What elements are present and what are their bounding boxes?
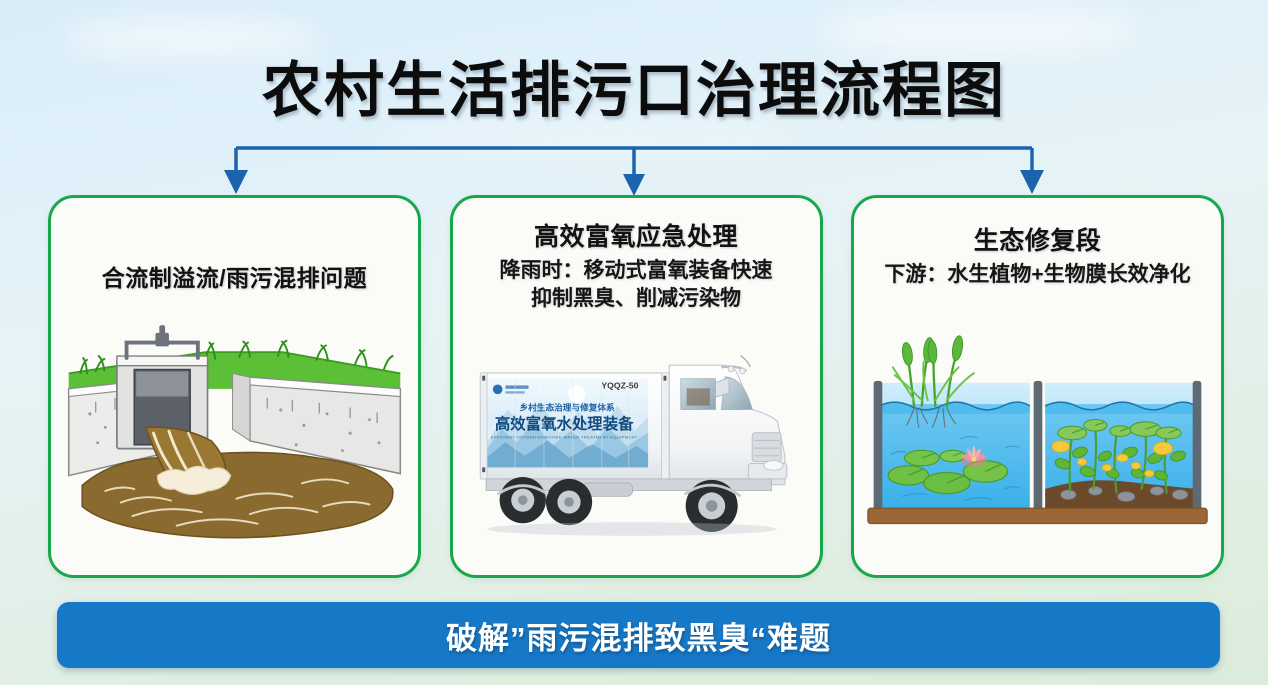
aquatic-plant-tank-illustration (864, 299, 1211, 565)
arrow-head-2 (623, 174, 645, 196)
card-subtitle: 下游：水生植物+生物膜长效净化 (864, 261, 1211, 289)
truck-panel-line3: EFFICIENT OXYGEN-ENRICHED WATER TREATMEN… (490, 434, 637, 439)
stage-card-eco-restoration[interactable]: 生态修复段 下游：水生植物+生物膜长效净化 (851, 195, 1224, 578)
page-title: 农村生活排污口治理流程图 (0, 42, 1268, 129)
card-title: 高效富氧应急处理 (463, 222, 810, 253)
stage-card-emergency-treatment[interactable]: 高效富氧应急处理 降雨时：移动式富氧装备快速 抑制黑臭、削减污染物 (450, 195, 823, 578)
card-title: 生态修复段 (864, 226, 1211, 257)
truck-model-code: YQQZ-50 (601, 380, 638, 390)
stage-cards-row: 合流制溢流/雨污混排问题 (48, 195, 1224, 578)
summary-banner-text: 破解”雨污混排致黑臭“难题 (446, 613, 831, 658)
truck-panel-line1: 乡村生态治理与修复体系 (519, 401, 615, 412)
card-header: 生态修复段 下游：水生植物+生物膜长效净化 (864, 226, 1211, 289)
card-title: 合流制溢流/雨污混排问题 (61, 264, 408, 293)
stage-card-problem[interactable]: 合流制溢流/雨污混排问题 (48, 195, 421, 578)
sewage-outfall-illustration (61, 303, 408, 565)
card-subtitle-line1: 降雨时：移动式富氧装备快速 (463, 257, 810, 285)
truck-panel-line2: 高效富氧水处理装备 (494, 413, 633, 432)
arrow-head-3 (1020, 170, 1044, 194)
slide-canvas: 农村生活排污口治理流程图 合流制溢流/雨污混排问题 (0, 0, 1268, 685)
card-subtitle-line2: 抑制黑臭、削减污染物 (463, 285, 810, 313)
card-header: 高效富氧应急处理 降雨时：移动式富氧装备快速 抑制黑臭、削减污染物 (463, 222, 810, 313)
arrow-head-1 (224, 170, 248, 194)
mobile-oxygenation-truck-photo: 乡村生态治理与修复体系 高效富氧水处理装备 EFFICIENT OXYGEN-E… (463, 327, 810, 565)
summary-banner[interactable]: 破解”雨污混排致黑臭“难题 (57, 602, 1220, 668)
card-header: 合流制溢流/雨污混排问题 (61, 264, 408, 293)
